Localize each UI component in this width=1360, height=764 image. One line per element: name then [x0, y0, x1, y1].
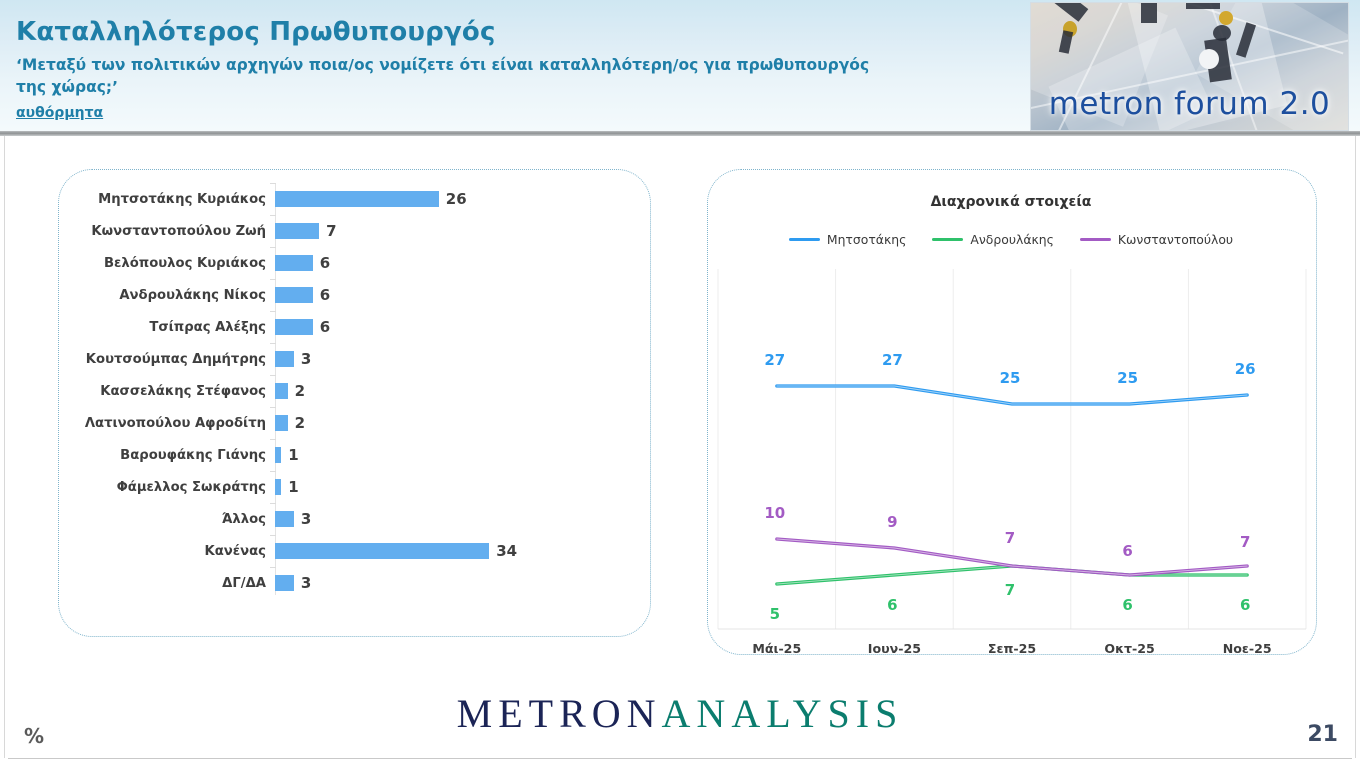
bar[interactable]	[275, 191, 439, 207]
data-label: 27	[882, 351, 903, 369]
bar-value-label: 1	[288, 446, 298, 464]
bar-axis-tick	[270, 407, 276, 408]
data-label: 7	[1005, 581, 1015, 599]
line-series-0	[777, 386, 1247, 404]
bar-chart-row: Κανένας34	[58, 535, 649, 567]
bar-track: 1	[275, 439, 649, 471]
bar-chart-row: Μητσοτάκης Κυριάκος26	[58, 183, 649, 215]
bar-axis-tick	[270, 503, 276, 504]
x-axis-tick-label: Μάι-25	[752, 641, 801, 656]
bar[interactable]	[275, 383, 288, 399]
bar-track: 3	[275, 503, 649, 535]
bar-axis-tick	[270, 311, 276, 312]
bar-chart-row: Κωνσταντοπούλου Ζωή7	[58, 215, 649, 247]
bar-axis-tick	[270, 215, 276, 216]
data-label: 25	[1000, 369, 1021, 387]
brand-metron: METRON	[457, 691, 662, 736]
line-chart-title: Διαχρονικά στοιχεία	[707, 194, 1315, 210]
line-chart-plot: 272725252656766109767Μάι-25Ιουν-25Σεπ-25…	[712, 265, 1310, 705]
line-chart: Διαχρονικά στοιχεία ΜητσοτάκηςΑνδρουλάκη…	[707, 169, 1315, 653]
bar-track: 2	[275, 407, 649, 439]
bar-value-label: 26	[446, 190, 467, 208]
bar-category-label: Κουτσούμπας Δημήτρης	[58, 352, 275, 367]
bar-value-label: 34	[496, 542, 517, 560]
bar-track: 6	[275, 279, 649, 311]
bar[interactable]	[275, 479, 281, 495]
bar[interactable]	[275, 575, 294, 591]
bar-chart-row: Άλλος3	[58, 503, 649, 535]
bar[interactable]	[275, 415, 288, 431]
bar[interactable]	[275, 351, 294, 367]
bar-track: 3	[275, 343, 649, 375]
bar-value-label: 3	[301, 510, 311, 528]
bar-value-label: 2	[295, 414, 305, 432]
x-axis-tick-label: Οκτ-25	[1104, 641, 1154, 656]
bar-chart-row: Φάμελλος Σωκράτης1	[58, 471, 649, 503]
bar-chart-row: Βελόπουλος Κυριάκος6	[58, 247, 649, 279]
x-axis-tick-label: Νοε-25	[1223, 641, 1272, 656]
data-label: 6	[1240, 596, 1250, 614]
footer-divider	[8, 758, 1352, 759]
bar-category-label: Λατινοπούλου Αφροδίτη	[58, 416, 275, 431]
metron-forum-logo: metron forum 2.0	[1030, 2, 1349, 131]
bar-chart-row: Κασσελάκης Στέφανος2	[58, 375, 649, 407]
bar-axis-tick	[270, 279, 276, 280]
bar-chart-row: Τσίπρας Αλέξης6	[58, 311, 649, 343]
bar-axis-tick	[270, 471, 276, 472]
bar-axis-tick	[270, 439, 276, 440]
bar[interactable]	[275, 447, 281, 463]
data-label: 10	[764, 504, 785, 522]
line-chart-legend: ΜητσοτάκηςΑνδρουλάκηςΚωνσταντοπούλου	[707, 232, 1315, 247]
data-label: 5	[770, 605, 780, 623]
legend-swatch-icon	[1080, 238, 1111, 242]
bar-category-label: Μητσοτάκης Κυριάκος	[58, 192, 275, 207]
left-edge-line	[4, 136, 5, 758]
bar-chart-row: Βαρουφάκης Γιάνης1	[58, 439, 649, 471]
bar-chart: Μητσοτάκης Κυριάκος26Κωνσταντοπούλου Ζωή…	[58, 169, 649, 635]
bar-category-label: Βελόπουλος Κυριάκος	[58, 256, 275, 271]
bar-category-label: ΔΓ/ΔΑ	[58, 576, 275, 591]
bar-category-label: Ανδρουλάκης Νίκος	[58, 288, 275, 303]
x-axis-tick-label: Ιουν-25	[868, 641, 921, 656]
data-label: 7	[1240, 533, 1250, 551]
legend-swatch-icon	[932, 238, 963, 242]
data-label: 26	[1235, 360, 1256, 378]
bar-track: 1	[275, 471, 649, 503]
bar-value-label: 6	[320, 286, 330, 304]
slide-body: Μητσοτάκης Κυριάκος26Κωνσταντοπούλου Ζωή…	[0, 136, 1360, 764]
bar-category-label: Φάμελλος Σωκράτης	[58, 480, 275, 495]
bar[interactable]	[275, 223, 319, 239]
legend-label: Ανδρουλάκης	[970, 232, 1054, 247]
bar-category-label: Άλλος	[58, 512, 275, 527]
bar-track: 3	[275, 567, 649, 599]
bar-axis-tick	[270, 567, 276, 568]
data-label: 25	[1117, 369, 1138, 387]
data-label: 6	[1122, 596, 1132, 614]
bar-track: 7	[275, 215, 649, 247]
bar[interactable]	[275, 255, 313, 271]
bar-track: 2	[275, 375, 649, 407]
bar-category-label: Κασσελάκης Στέφανος	[58, 384, 275, 399]
bar-chart-row: Λατινοπούλου Αφροδίτη2	[58, 407, 649, 439]
data-label: 7	[1005, 529, 1015, 547]
bar-chart-row: ΔΓ/ΔΑ3	[58, 567, 649, 599]
bar-value-label: 1	[288, 478, 298, 496]
x-axis-tick-label: Σεπ-25	[988, 641, 1036, 656]
bar-axis-tick	[270, 375, 276, 376]
legend-item-1[interactable]: Ανδρουλάκης	[932, 232, 1054, 247]
bar[interactable]	[275, 287, 313, 303]
bar-axis-tick	[270, 535, 276, 536]
legend-swatch-icon	[789, 238, 820, 242]
legend-item-0[interactable]: Μητσοτάκης	[789, 232, 907, 247]
metron-forum-logo-text: metron forum 2.0	[1031, 86, 1348, 122]
data-label: 6	[887, 596, 897, 614]
legend-label: Μητσοτάκης	[827, 232, 907, 247]
bar-value-label: 3	[301, 574, 311, 592]
question-line-2: της χώρας;’	[16, 78, 118, 96]
slide-canvas: MEGAMEGAMEGAMEGAMEGAMEGAMEGAMEGAMEGAMEGA…	[0, 0, 1360, 764]
bar-value-label: 6	[320, 254, 330, 272]
bar-value-label: 2	[295, 382, 305, 400]
legend-label: Κωνσταντοπούλου	[1118, 232, 1233, 247]
question-subtitle: ‘Μεταξύ των πολιτικών αρχηγών ποια/ος νο…	[16, 54, 1006, 98]
data-label: 27	[764, 351, 785, 369]
header-divider	[0, 131, 1360, 136]
legend-item-2[interactable]: Κωνσταντοπούλου	[1080, 232, 1233, 247]
brand-analysis: ANALYSIS	[662, 691, 904, 736]
bar-category-label: Κανένας	[58, 544, 275, 559]
bar-track: 34	[275, 535, 649, 567]
line-chart-svg	[712, 265, 1310, 705]
spontaneous-note: αυθόρμητα	[16, 105, 103, 121]
bar-value-label: 3	[301, 350, 311, 368]
question-line-1: ‘Μεταξύ των πολιτικών αρχηγών ποια/ος νο…	[16, 56, 869, 74]
right-edge-line	[1355, 136, 1356, 758]
bar-axis-tick	[270, 183, 276, 184]
data-label: 6	[1122, 542, 1132, 560]
bar-value-label: 6	[320, 318, 330, 336]
bar[interactable]	[275, 511, 294, 527]
bar-axis-tick	[270, 343, 276, 344]
bar-track: 26	[275, 183, 649, 215]
bar-category-label: Τσίπρας Αλέξης	[58, 320, 275, 335]
bar-axis-tick	[270, 247, 276, 248]
bar-category-label: Βαρουφάκης Γιάνης	[58, 448, 275, 463]
bar[interactable]	[275, 319, 313, 335]
data-label: 9	[887, 513, 897, 531]
bar-chart-row: Κουτσούμπας Δημήτρης3	[58, 343, 649, 375]
bar-track: 6	[275, 247, 649, 279]
bar-chart-row: Ανδρουλάκης Νίκος6	[58, 279, 649, 311]
bar-value-label: 7	[326, 222, 336, 240]
metron-analysis-logo: METRONANALYSIS	[0, 690, 1360, 737]
slide-header: Καταλληλότερος Πρωθυπουργός ‘Μεταξύ των …	[0, 0, 1360, 131]
bar-category-label: Κωνσταντοπούλου Ζωή	[58, 224, 275, 239]
page-number: 21	[1307, 722, 1338, 747]
bar-track: 6	[275, 311, 649, 343]
page-title: Καταλληλότερος Πρωθυπουργός	[16, 19, 1016, 46]
bar[interactable]	[275, 543, 489, 559]
